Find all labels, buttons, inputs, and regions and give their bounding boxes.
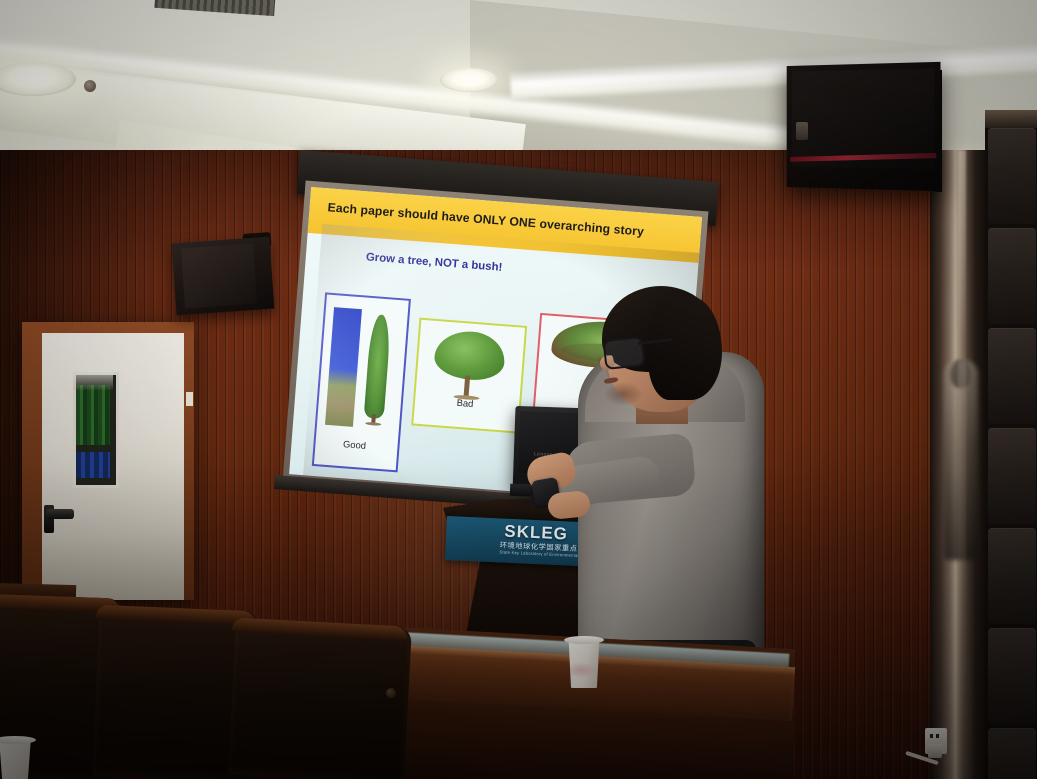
acoustic-pad (988, 728, 1036, 779)
chair-pivot-knob (386, 688, 396, 698)
acoustic-pad (988, 528, 1036, 624)
outlet-plug (928, 744, 942, 758)
sprinkler-head-icon (84, 80, 96, 92)
outlet-socket-holes (930, 734, 942, 738)
acoustic-pad (988, 428, 1036, 524)
acoustic-pad (988, 328, 1036, 424)
door-window-glare (73, 372, 113, 390)
paper-cup-rim (564, 636, 604, 644)
door-handle[interactable] (46, 509, 74, 519)
bookshelf-behind-door (76, 385, 110, 445)
acoustic-wall-trim (985, 110, 1037, 128)
acoustic-pad (988, 128, 1036, 224)
speaker-grille (181, 244, 257, 309)
acoustic-pad (988, 228, 1036, 324)
door-frame-card (186, 392, 193, 406)
presentation-room-photo: Each paper should have ONLY ONE overarch… (0, 0, 1037, 779)
ceiling-downlight (440, 68, 498, 92)
presenter-chin-shadow (603, 382, 643, 406)
column-highlight (958, 150, 966, 779)
speaker-badge (796, 122, 808, 140)
acoustic-pad (988, 628, 1036, 724)
bookshelf-behind-door-lower (76, 452, 110, 478)
paper-cup-print (570, 662, 598, 678)
auditorium-chair[interactable] (228, 618, 412, 779)
presenter-hair-side (648, 296, 722, 400)
